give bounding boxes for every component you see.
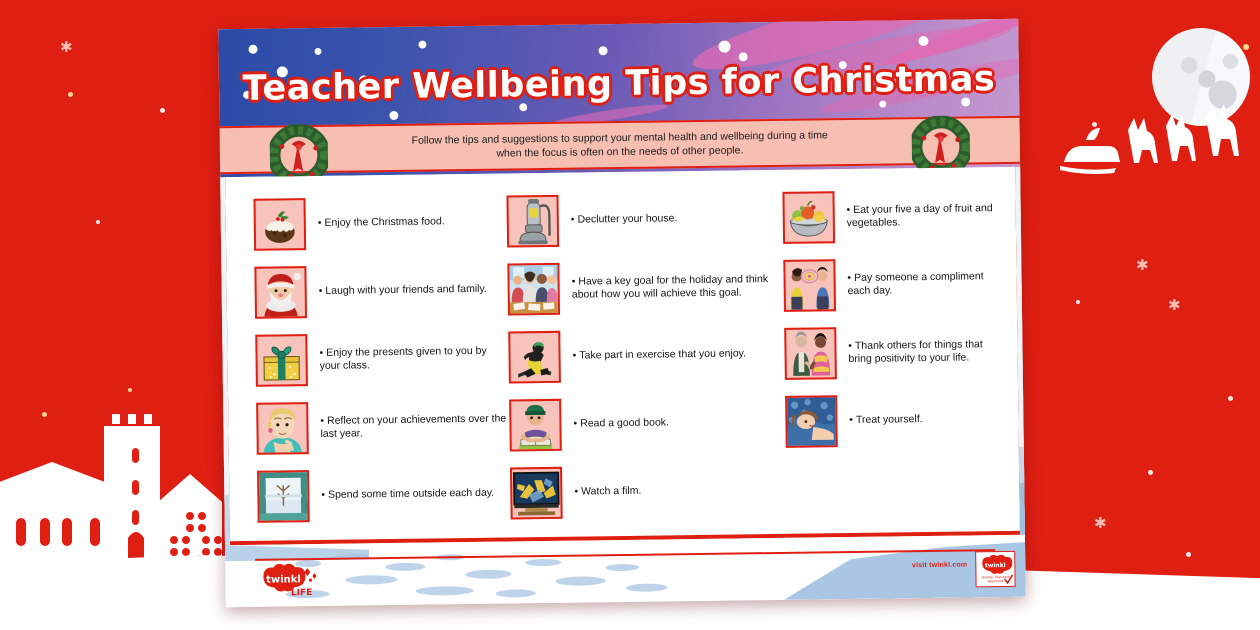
poster: Teacher Wellbeing Tips for Christmas Fol… bbox=[218, 19, 1025, 607]
life-wordmark: LIFE bbox=[291, 588, 313, 598]
bullet: • bbox=[571, 214, 575, 226]
tip-text: Reflect on your achievements over the la… bbox=[320, 412, 506, 440]
bullet: • bbox=[848, 339, 852, 351]
tip-text: Read a good book. bbox=[580, 417, 669, 430]
bullet: • bbox=[849, 414, 853, 426]
bullet: • bbox=[319, 346, 323, 358]
fruit-bowl-icon bbox=[782, 191, 835, 244]
svg-text:Approved: Approved bbox=[988, 579, 1003, 583]
tip-text: Treat yourself. bbox=[856, 413, 923, 426]
window-winter-view-icon bbox=[257, 470, 310, 523]
santa-icon bbox=[254, 266, 307, 319]
christmas-pudding-icon bbox=[253, 198, 306, 251]
tip-text: Enjoy the presents given to you by your … bbox=[320, 344, 487, 372]
tip-text: Thank others for things that bring posit… bbox=[848, 338, 982, 365]
bullet: • bbox=[574, 486, 578, 498]
tips-body: •Enjoy the Christmas food. bbox=[220, 167, 1025, 545]
list-item: •Eat your five a day of fruit and vegeta… bbox=[782, 189, 1000, 244]
tip-text: Declutter your house. bbox=[577, 213, 677, 226]
list-item: •Spend some time outside each day. bbox=[257, 467, 511, 522]
list-item: •Take part in exercise that you enjoy. bbox=[508, 328, 784, 384]
two-people-talking-icon bbox=[783, 259, 836, 312]
subtitle-line-2: when the focus is often on the needs of … bbox=[496, 143, 743, 160]
twinkl-life-logo: twinkl LIFE bbox=[257, 562, 323, 601]
tip-text: Have a key goal for the holiday and thin… bbox=[572, 273, 768, 301]
bullet: • bbox=[321, 489, 325, 501]
christmas-wreath-icon bbox=[270, 124, 329, 177]
poster-footer: twinkl LIFE visit twinkl.com twinkl Qual… bbox=[225, 535, 1026, 607]
poster-header: Teacher Wellbeing Tips for Christmas Fol… bbox=[218, 19, 1020, 177]
vacuum-cleaner-icon bbox=[507, 195, 560, 248]
tip-text: Eat your five a day of fruit and vegetab… bbox=[847, 202, 993, 229]
television-icon bbox=[510, 467, 563, 520]
christmas-wreath-icon bbox=[911, 115, 970, 174]
person-resting-icon bbox=[785, 395, 838, 448]
bullet: • bbox=[320, 414, 324, 426]
bullet: • bbox=[847, 271, 851, 283]
sparkle-icon: ✱ bbox=[60, 40, 73, 55]
list-item: •Have a key goal for the holiday and thi… bbox=[507, 260, 783, 316]
tips-column-1: •Enjoy the Christmas food. bbox=[253, 196, 511, 541]
tip-text: Enjoy the Christmas food. bbox=[324, 216, 444, 230]
list-item: •Thank others for things that bring posi… bbox=[784, 325, 1002, 380]
twinkl-wordmark: twinkl bbox=[266, 574, 301, 585]
tips-column-3: •Eat your five a day of fruit and vegeta… bbox=[782, 189, 1004, 534]
list-item: •Laugh with your friends and family. bbox=[254, 263, 508, 318]
list-item: •Pay someone a compliment each day. bbox=[783, 257, 1001, 312]
bullet: • bbox=[846, 204, 850, 216]
bullet: • bbox=[319, 285, 323, 297]
tip-text: Watch a film. bbox=[581, 485, 641, 498]
list-item: •Declutter your house. bbox=[507, 192, 783, 248]
tip-text: Spend some time outside each day. bbox=[328, 487, 494, 501]
list-item: •Read a good book. bbox=[509, 396, 785, 452]
tips-column-2: •Declutter your house. bbox=[507, 192, 787, 538]
list-item: •Enjoy the presents given to you by your… bbox=[255, 331, 509, 386]
bullet: • bbox=[572, 275, 576, 287]
sparkle-icon: ✱ bbox=[1168, 298, 1181, 313]
people-meeting-icon bbox=[507, 263, 560, 316]
list-item: •Watch a film. bbox=[510, 464, 786, 520]
sparkle-icon: ✱ bbox=[1094, 516, 1107, 531]
sparkle-icon: ✱ bbox=[1136, 258, 1149, 273]
couple-thanking-icon bbox=[784, 327, 837, 380]
bullet: • bbox=[318, 217, 322, 229]
tip-text: Take part in exercise that you enjoy. bbox=[579, 348, 746, 362]
thinking-woman-icon bbox=[256, 402, 309, 455]
list-item: •Enjoy the Christmas food. bbox=[253, 196, 507, 251]
santa-sleigh-icon bbox=[1058, 100, 1254, 178]
visit-link[interactable]: visit twinkl.com bbox=[912, 562, 967, 570]
subtitle-banner: Follow the tips and suggestions to suppo… bbox=[220, 116, 1021, 174]
bullet: • bbox=[573, 418, 577, 430]
list-item: •Treat yourself. bbox=[785, 393, 1003, 448]
snowboarder-icon bbox=[508, 331, 561, 384]
gift-present-icon bbox=[255, 334, 308, 387]
svg-text:twinkl: twinkl bbox=[985, 562, 1006, 569]
twinkl-badge-logo: twinkl Quality, Standard Approved bbox=[975, 551, 1015, 588]
tip-text: Pay someone a compliment each day. bbox=[847, 270, 983, 297]
person-reading-icon bbox=[509, 399, 562, 452]
bullet: • bbox=[573, 350, 577, 362]
tip-text: Laugh with your friends and family. bbox=[325, 283, 487, 297]
list-item: •Reflect on your achievements over the l… bbox=[256, 399, 510, 454]
